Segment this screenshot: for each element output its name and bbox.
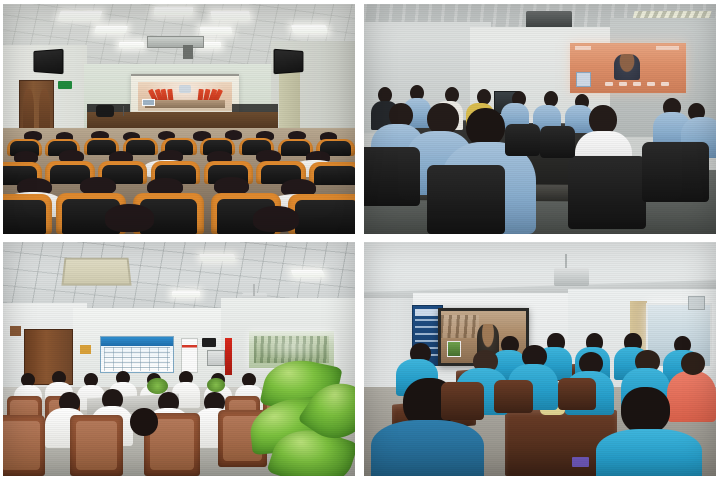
office-chair <box>364 147 420 207</box>
photo-bottom-left-meeting <box>3 242 355 476</box>
attendee-head <box>621 387 670 434</box>
screen-inset-badge <box>576 72 591 87</box>
photo-collage <box>0 0 720 480</box>
photo-top-right-conference <box>364 4 716 234</box>
ceiling-led-panel <box>94 26 128 33</box>
screen-emblem <box>179 85 190 93</box>
attendee-head <box>105 204 154 232</box>
photo-top-left-auditorium <box>3 4 355 234</box>
office-chair <box>505 124 540 156</box>
ceiling-fan-mount <box>183 45 194 59</box>
table-plant <box>207 378 225 392</box>
screen-speaker <box>614 54 640 80</box>
attendee-head <box>466 108 505 147</box>
ceiling-air-conditioner-icon <box>61 258 131 286</box>
wall-ac-unit <box>688 296 706 310</box>
red-poster <box>181 338 199 373</box>
office-chair <box>568 156 645 230</box>
wall-speaker-icon <box>274 49 304 75</box>
mobile-phone <box>572 457 590 466</box>
wooden-chair <box>70 415 123 476</box>
wall-speaker-icon <box>202 338 216 347</box>
projection-screen <box>131 74 238 116</box>
ceiling-led-panel <box>119 42 144 48</box>
wooden-chair-back <box>441 382 483 419</box>
attendee-torso-cyan <box>596 429 702 476</box>
photo-bottom-right-staffroom <box>364 242 716 476</box>
screen-banner-right <box>656 46 679 50</box>
wall-plaque <box>10 326 21 335</box>
ceiling-led-panel <box>199 27 232 34</box>
potted-plant <box>242 354 355 476</box>
wall-monitor <box>207 350 225 366</box>
national-flag <box>225 338 233 375</box>
podium-mic-icon <box>123 106 124 115</box>
ceiling-led-panel <box>291 25 328 33</box>
air-conditioner-vent <box>147 36 203 48</box>
stage-chair <box>96 105 114 117</box>
wooden-chair <box>3 415 45 476</box>
screen-inset <box>142 99 155 107</box>
attendee-torso-coral <box>667 371 716 422</box>
ceiling-led-panel <box>154 7 194 15</box>
attendee-head <box>130 408 158 436</box>
ceiling-led-panel <box>290 270 324 277</box>
ceiling-led-panel <box>210 11 250 20</box>
office-chair <box>642 142 709 202</box>
office-chair <box>427 165 504 234</box>
auditorium-seat <box>3 194 52 234</box>
projector-arm <box>253 284 255 296</box>
wall-plaque <box>80 345 91 354</box>
wall-speaker-icon <box>34 49 64 75</box>
exit-sign-icon <box>58 81 72 89</box>
projection-screen <box>570 43 686 92</box>
tv-hall-rows <box>441 315 479 338</box>
attendee-torso-cyan <box>371 420 484 476</box>
wooden-chair-back <box>494 380 533 413</box>
tv-picture-in-picture <box>447 341 461 357</box>
blue-information-board <box>100 336 174 373</box>
ceiling-led-panel <box>199 254 236 261</box>
ceiling-led-panel <box>58 11 103 20</box>
board-table-rows <box>104 347 170 370</box>
screen-stage <box>145 100 224 109</box>
wooden-chair-back <box>558 378 597 411</box>
screen-banner-left <box>575 46 591 50</box>
ceiling-led-panel <box>172 291 200 297</box>
board-header <box>101 337 173 346</box>
audience-area <box>3 128 355 234</box>
office-chair <box>540 126 575 158</box>
attendee-head <box>253 206 299 231</box>
board-title-strip <box>415 309 440 315</box>
ceiling-projector-icon <box>554 268 589 287</box>
screen-content <box>138 82 232 111</box>
auditorium-seat <box>309 162 355 185</box>
